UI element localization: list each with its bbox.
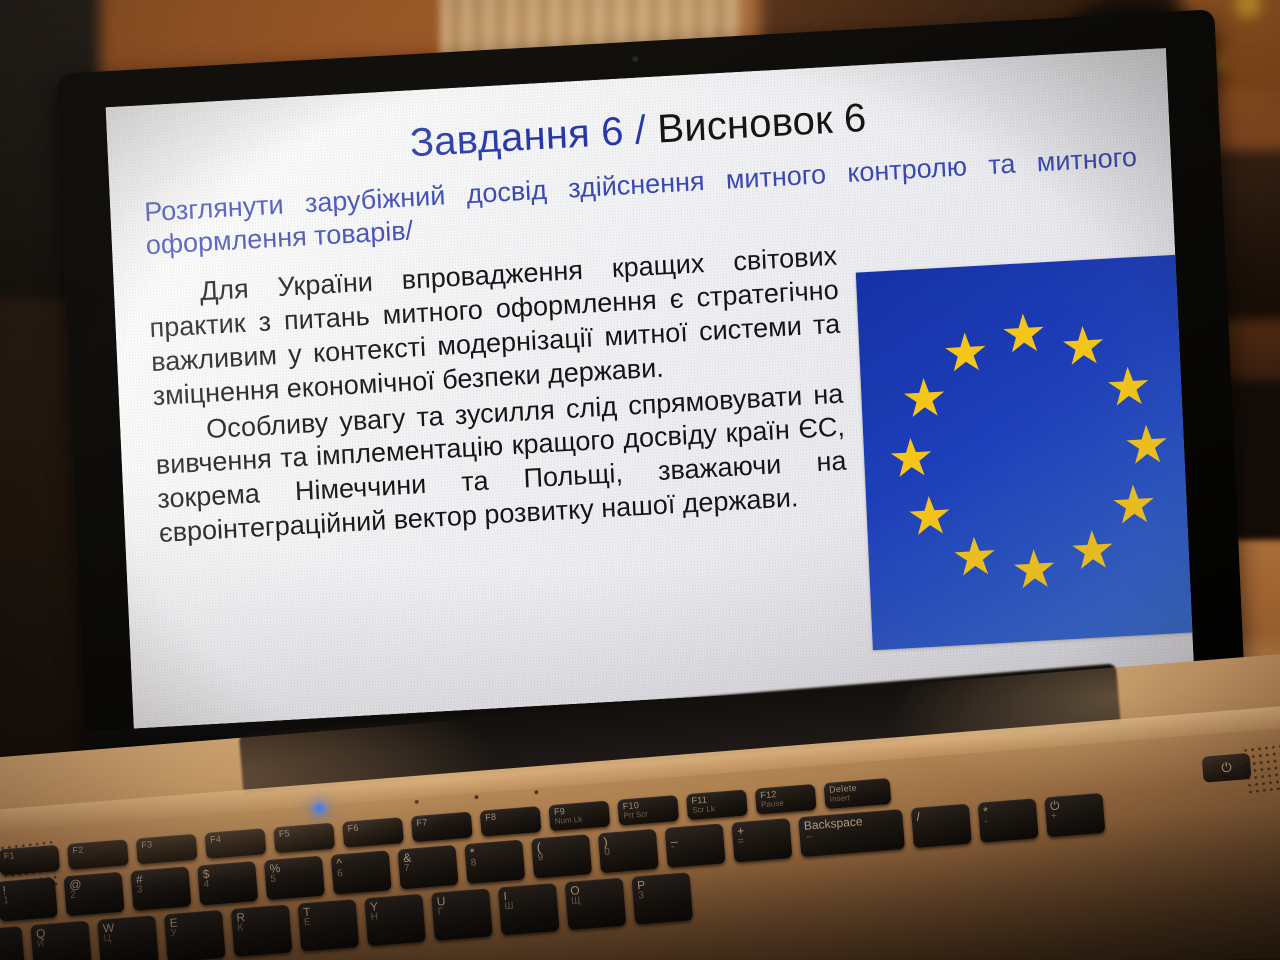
key-u[interactable]: UГ: [431, 888, 493, 940]
key-sublabel: Prt Scr: [623, 808, 673, 820]
key-f1[interactable]: F1: [0, 845, 60, 876]
key-p[interactable]: PЗ: [631, 872, 693, 924]
key-label: F5: [279, 826, 330, 839]
key-num--[interactable]: *-: [978, 798, 1039, 843]
deck-indicator-dot-1: [415, 800, 419, 804]
slide-title-blue-part: Завдання 6 /: [409, 108, 647, 165]
slide-image-column: [854, 220, 1194, 650]
slide-body: Для України впровадження кращих світових…: [147, 223, 1158, 690]
key-f5[interactable]: F5: [273, 823, 335, 854]
eu-star-icon: [902, 377, 946, 421]
key-num-0[interactable]: )0: [598, 829, 659, 874]
key-q[interactable]: QЙ: [30, 921, 92, 960]
key-sublabel: Num Lk: [554, 814, 604, 826]
eu-star-icon: [1107, 366, 1151, 410]
key-label: Tab: [0, 929, 18, 947]
key-backspace[interactable]: Backspace←: [798, 809, 905, 857]
photo-scene: Завдання 6 / Висновок 6 Розглянути заруб…: [0, 0, 1280, 960]
key-e[interactable]: EУ: [164, 910, 226, 960]
key-num-7[interactable]: &7: [397, 845, 458, 890]
slide-text-column: Для України впровадження кращих світових…: [147, 240, 848, 553]
key-y[interactable]: YН: [364, 894, 426, 946]
key-f4[interactable]: F4: [205, 828, 267, 859]
key-num-8[interactable]: *8: [464, 840, 525, 885]
eu-star-icon: [953, 536, 997, 580]
key-f6[interactable]: F6: [342, 817, 404, 848]
webcam-icon: [632, 55, 639, 62]
presentation-slide: Завдання 6 / Висновок 6 Розглянути заруб…: [106, 48, 1195, 729]
key-alt-label: Щ: [571, 893, 620, 907]
key-num-[interactable]: /: [911, 804, 972, 849]
key-num-1[interactable]: !1: [0, 877, 58, 922]
key-num-=[interactable]: +=: [731, 818, 792, 863]
deck-indicator-dot-2: [474, 795, 478, 799]
laptop-screen[interactable]: Завдання 6 / Висновок 6 Розглянути заруб…: [106, 48, 1195, 729]
eu-star-icon: [889, 437, 933, 481]
deck-indicator-dot-3: [534, 790, 538, 794]
key-delete[interactable]: DeleteInsert: [824, 778, 892, 809]
key-i[interactable]: IШ: [498, 883, 560, 935]
eu-star-icon: [1112, 483, 1156, 527]
slide-title-black-part: Висновок 6: [645, 96, 867, 152]
key-sublabel: Insert: [830, 791, 886, 803]
european-union-flag-image: [856, 254, 1194, 650]
eu-star-icon: [908, 495, 952, 539]
key-f3[interactable]: F3: [136, 834, 198, 865]
key-num-3[interactable]: #3: [130, 866, 191, 911]
key-f10[interactable]: F10Prt Scr: [617, 795, 679, 826]
laptop-lid: Завдання 6 / Висновок 6 Розглянути заруб…: [56, 9, 1246, 773]
key-num-2[interactable]: @2: [64, 872, 125, 917]
key-label: F6: [347, 821, 398, 834]
eu-star-icon: [1002, 312, 1046, 356]
key-r[interactable]: RК: [231, 905, 293, 957]
key-label: F1: [3, 848, 54, 861]
key-f11[interactable]: F11Scr Lk: [686, 789, 748, 820]
key-num-9[interactable]: (9: [531, 834, 592, 879]
power-led-indicator: [315, 803, 325, 813]
key-f9[interactable]: F9Num Lk: [548, 801, 610, 832]
key-label: /: [916, 807, 965, 823]
key-sublabel: Scr Lk: [692, 803, 742, 815]
key-num-4[interactable]: $4: [197, 861, 258, 906]
key-num--[interactable]: _-: [665, 823, 726, 868]
power-button[interactable]: ⏻: [1202, 753, 1252, 783]
key-alt-label: Ш: [504, 898, 553, 912]
eu-star-icon: [944, 331, 988, 375]
eu-star-icon: [1071, 529, 1115, 573]
key-f12[interactable]: F12Pause: [755, 784, 817, 815]
key-label: F4: [210, 832, 261, 845]
key-f8[interactable]: F8: [480, 806, 542, 837]
key-label: F8: [485, 809, 536, 822]
key-w[interactable]: WЦ: [97, 915, 159, 960]
key-num-5[interactable]: %5: [264, 856, 325, 901]
key-num-+[interactable]: ⏻+: [1044, 793, 1105, 838]
eu-star-icon: [1125, 424, 1169, 468]
key-label: F3: [141, 837, 192, 850]
key-sublabel: Pause: [761, 797, 811, 809]
eu-star-icon: [1061, 325, 1105, 369]
key-t[interactable]: TЕ: [298, 899, 360, 951]
key-label: F7: [416, 815, 467, 828]
key-label: F2: [72, 843, 123, 856]
key-f2[interactable]: F2: [67, 839, 129, 870]
laptop: Завдання 6 / Висновок 6 Розглянути заруб…: [0, 0, 1280, 960]
key-tab[interactable]: Tab: [0, 926, 25, 960]
key-o[interactable]: OЩ: [565, 878, 627, 930]
eu-star-icon: [1013, 548, 1057, 592]
key-f7[interactable]: F7: [411, 812, 473, 843]
key-num-6[interactable]: ^6: [331, 850, 392, 895]
